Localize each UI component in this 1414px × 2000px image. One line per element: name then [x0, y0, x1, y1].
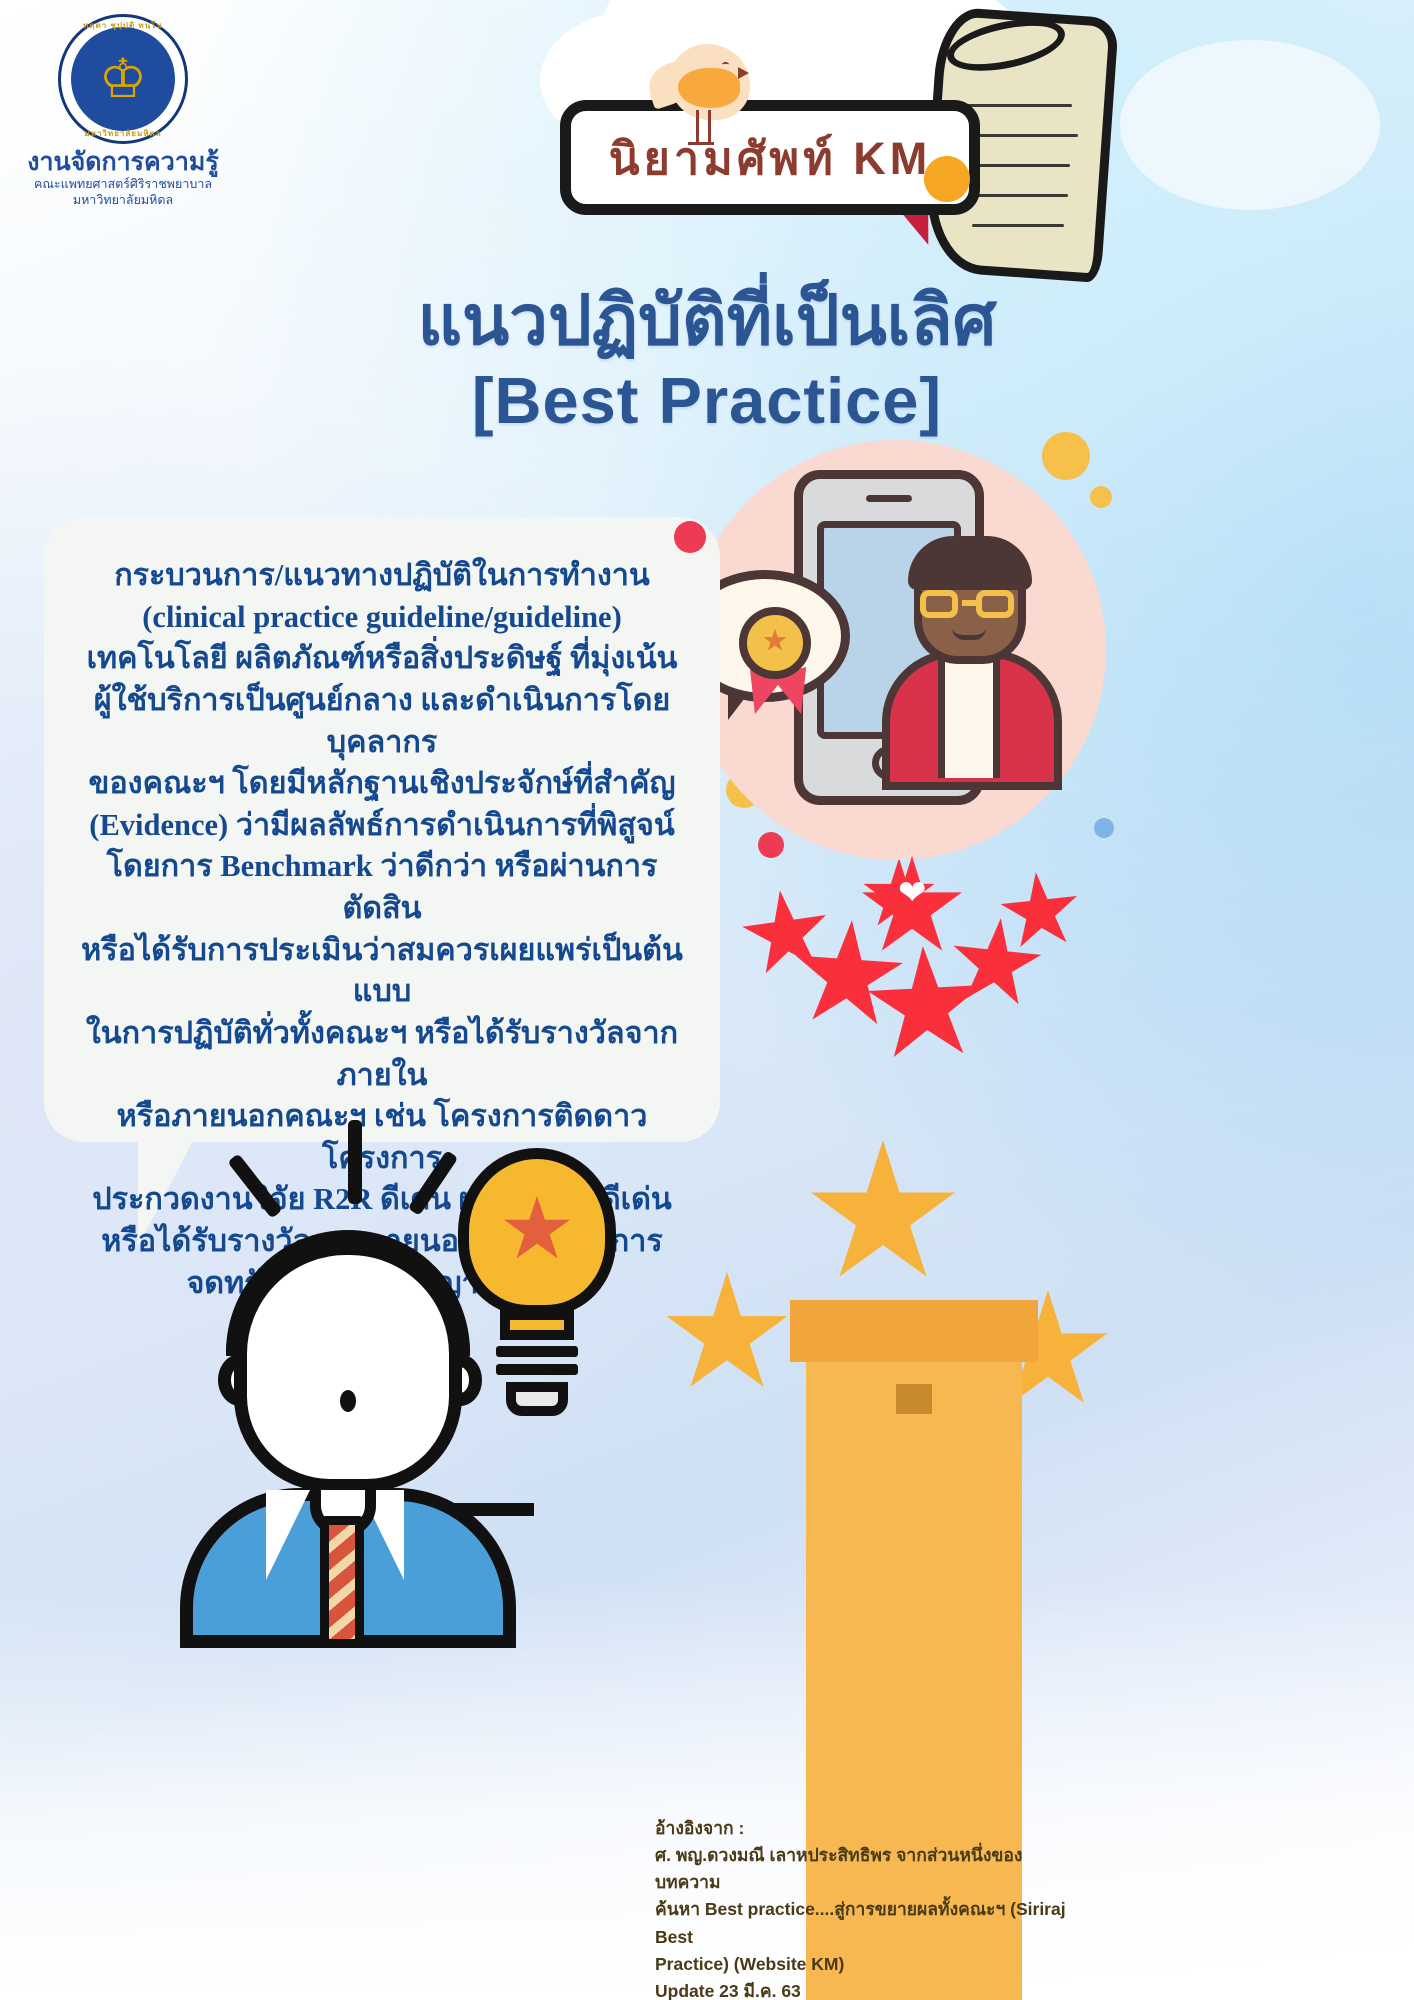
logo-title: งานจัดการความรู้ [18, 149, 228, 175]
reference-line-4: Practice) (Website KM) [655, 1951, 1085, 1978]
smartphone-award-illustration: ★ [686, 440, 1106, 860]
seal-motif-icon: ♔ [99, 52, 147, 106]
man-collar-left [266, 1490, 310, 1580]
lightbulb-star-icon: ★ [498, 1186, 575, 1272]
lightbulb-neck [500, 1310, 574, 1340]
phone-speaker-icon [866, 495, 912, 502]
reference-line-5: Update 23 มี.ค. 63 [655, 1978, 1085, 2000]
man-head [234, 1242, 462, 1492]
man-eye [340, 1390, 356, 1412]
idea-ray [227, 1153, 282, 1218]
km-term-banner: นิยามศัพท์ KM [560, 100, 980, 215]
reference-line-3: ค้นหา Best practice....สู่การขยายผลทั้งค… [655, 1896, 1085, 1950]
mahidol-seal-icon: ทตฺตา ชุปฺปติ ทนฺโน ♔ มหาวิทยาลัยมหิดล [58, 14, 188, 144]
avatar-hair [908, 536, 1032, 590]
lightbulb-screw [496, 1346, 578, 1357]
lightbulb-icon: ★ [458, 1148, 616, 1316]
card-accent-dot [674, 521, 706, 553]
reference-line-1: อ้างอิงจาก : [655, 1815, 1085, 1842]
seal-arc-top-text: ทตฺตา ชุปฺปติ ทนฺโน [58, 19, 188, 32]
medal-star-icon: ★ [762, 627, 789, 657]
avatar-glasses-left [920, 590, 958, 618]
wax-seal-icon [924, 156, 970, 202]
avatar-glasses-right [976, 590, 1014, 618]
heart-glyph-icon: ❤ [898, 876, 927, 910]
organization-logo: ทตฺตา ชุปฺปติ ทนฺโน ♔ มหาวิทยาลัยมหิดล ง… [18, 14, 228, 209]
person-avatar [876, 532, 1066, 782]
logo-subtitle-university: มหาวิทยาลัยมหิดล [18, 193, 228, 209]
seal-arc-bottom-text: มหาวิทยาลัยมหิดล [58, 127, 188, 140]
definition-card: กระบวนการ/แนวทางปฏิบัติในการทำงาน (clini… [44, 517, 720, 1142]
man-necktie [320, 1516, 364, 1648]
star-red-6-icon [996, 868, 1084, 956]
idea-ray [348, 1120, 362, 1204]
reference-block: อ้างอิงจาก : ศ. พญ.ดวงมณี เลาหประสิทธิพร… [655, 1815, 1085, 2000]
lightbulb-base [506, 1382, 568, 1416]
gift-box-lid [790, 1300, 1038, 1362]
award-medal-icon: ★ [739, 607, 811, 679]
avatar-shirt [938, 658, 1000, 778]
cloud-shape [1120, 40, 1380, 210]
lightbulb-screw [496, 1364, 578, 1375]
reference-line-2: ศ. พญ.ดวงมณี เลาหประสิทธิพร จากส่วนหนึ่ง… [655, 1842, 1085, 1896]
banner-label: นิยามศัพท์ KM [609, 122, 931, 194]
idea-ray [408, 1150, 459, 1216]
headline-english: [Best Practice] [0, 365, 1414, 438]
star-gold-1-icon [808, 1140, 958, 1290]
poster-canvas: ทตฺตา ชุปฺปติ ทนฺโน ♔ มหาวิทยาลัยมหิดล ง… [0, 0, 1414, 2000]
idea-lightbulb-illustration: ★ [170, 1118, 690, 1618]
page-title: แนวปฏิบัติที่เป็นเลิศ [Best Practice] [0, 282, 1414, 438]
bird-icon [660, 38, 756, 130]
gift-box-tab [896, 1384, 932, 1414]
headline-thai: แนวปฏิบัติที่เป็นเลิศ [0, 282, 1414, 359]
avatar-glasses-bridge [962, 600, 978, 606]
logo-subtitle-faculty: คณะแพทยศาสตร์ศิริราชพยาบาล [18, 177, 228, 193]
